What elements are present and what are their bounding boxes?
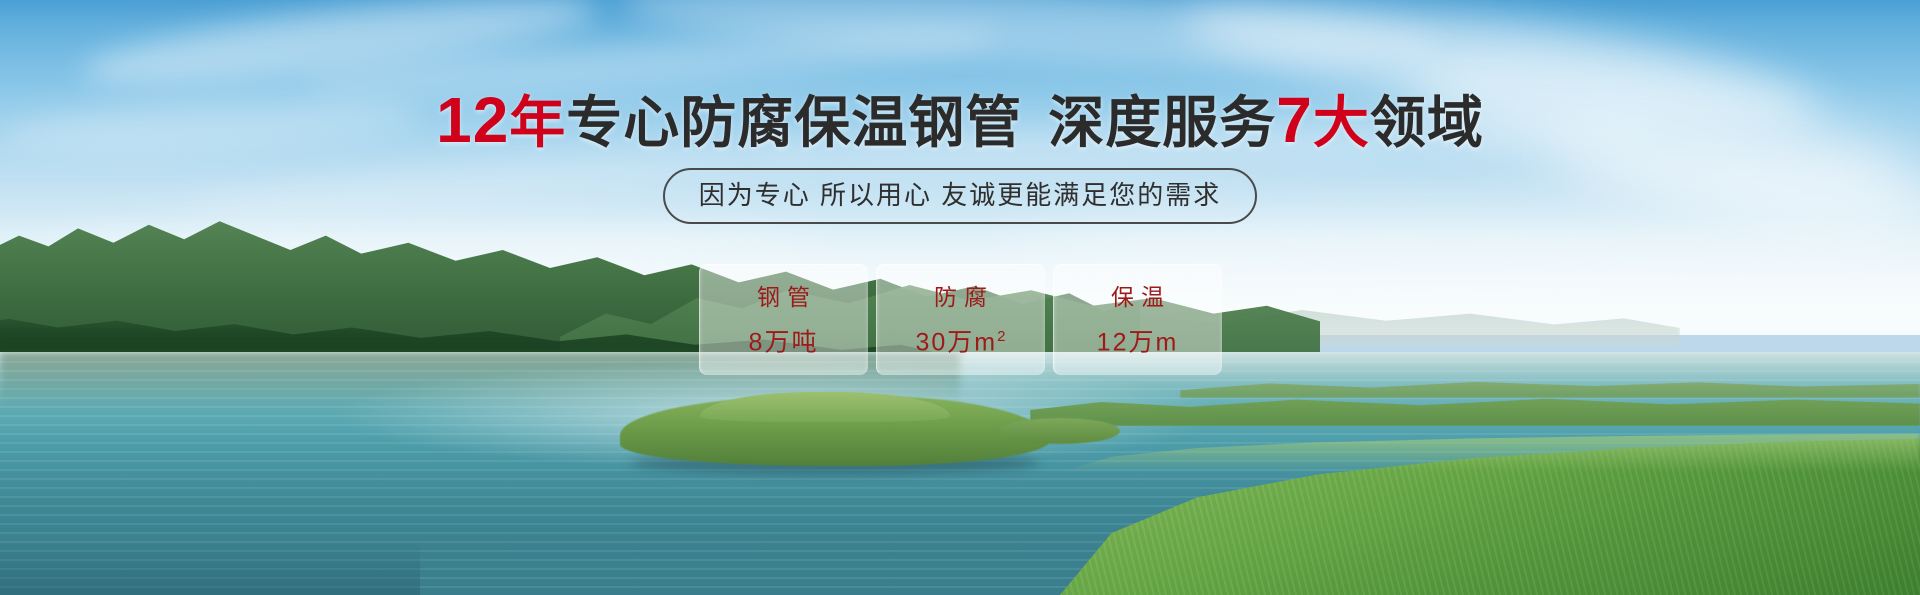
stat-card-value-text: 8万吨 [749,329,819,357]
headline-years-unit: 年 [509,91,566,154]
banner-subtitle-container: 因为专心 所以用心 友诚更能满足您的需求 [0,168,1920,224]
stat-cards-row: 钢管 8万吨 防腐 30万m2 保温 12万m [0,264,1920,375]
stat-card-insulation: 保温 12万m [1053,264,1222,375]
stat-card-anticorrosion: 防腐 30万m2 [876,264,1045,375]
headline-main-phrase: 专心防腐保温钢管 [566,91,1022,154]
headline-service-phrase: 深度服务 [1048,91,1276,154]
stat-card-value: 12万m [1097,322,1179,357]
stat-card-title: 钢管 [750,282,817,312]
headline-fields-measure: 大 [1313,91,1370,154]
stat-card-value-text: 30万m [916,329,998,357]
headline-fields-number: 7 [1276,84,1313,156]
headline-fields-word: 领域 [1370,91,1484,154]
stat-card-value-superscript: 2 [997,328,1005,345]
stat-card-value: 30万m2 [916,322,1006,357]
stat-card-value-text: 12万m [1097,329,1179,357]
headline-years-number: 12 [436,84,509,156]
stat-card-title: 保温 [1104,282,1171,312]
banner-headline: 12年专心防腐保温钢管深度服务7大领域 [0,88,1920,155]
promo-banner: 12年专心防腐保温钢管深度服务7大领域 因为专心 所以用心 友诚更能满足您的需求… [0,0,1920,595]
stat-card-steel-pipe: 钢管 8万吨 [699,264,868,375]
near-bank-shadow [0,540,420,595]
stat-card-title: 防腐 [927,282,994,312]
small-islet [1000,418,1120,444]
banner-subtitle-pill: 因为专心 所以用心 友诚更能满足您的需求 [663,168,1257,224]
stat-card-value: 8万吨 [749,322,819,357]
